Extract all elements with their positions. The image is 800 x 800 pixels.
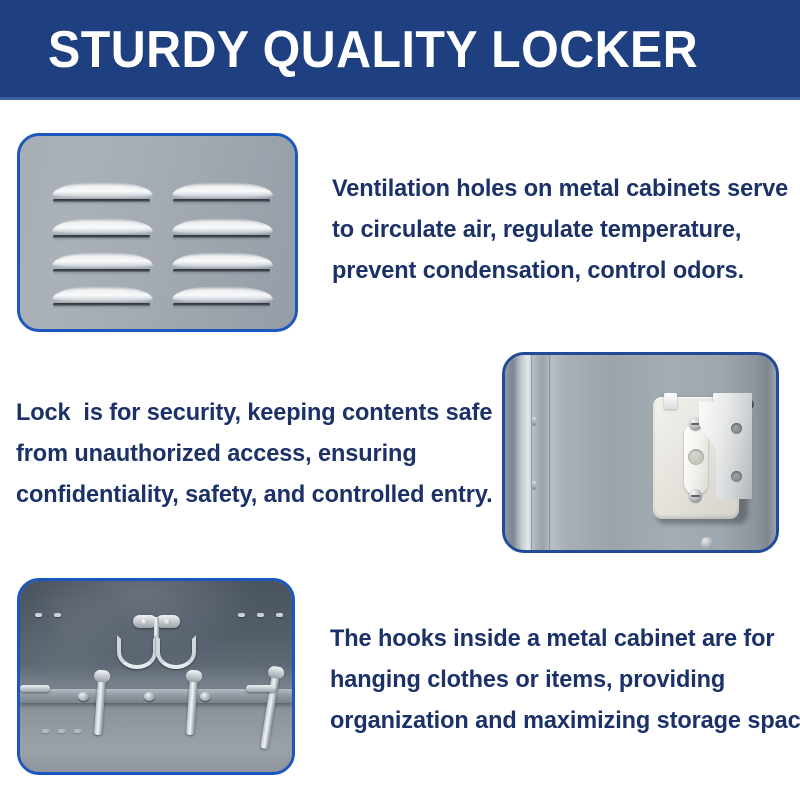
louver-blade — [172, 182, 273, 199]
hasp-lock-assembly — [653, 393, 755, 528]
lock-screw — [689, 489, 702, 502]
louver-slot — [53, 235, 150, 239]
punch-hole — [257, 613, 264, 617]
punch-hole — [74, 729, 81, 733]
ventilation-photo-panel — [17, 133, 298, 332]
caption-line: Lock is for security, keeping contents s… — [16, 392, 467, 433]
hook-arm-left — [117, 635, 157, 669]
louver-blade — [172, 286, 273, 303]
garment-hook-head — [94, 670, 111, 683]
caption-line: Ventilation holes on metal cabinets serv… — [332, 168, 766, 209]
punch-hole — [54, 613, 61, 617]
caption-line: organization and maximizing storage spac… — [330, 700, 770, 741]
door-seam — [549, 355, 551, 550]
louver-slot — [173, 199, 270, 203]
hasp-hole — [731, 471, 742, 482]
louver-slot — [53, 303, 150, 307]
vent-louver — [172, 252, 273, 275]
vent-louver — [52, 218, 153, 241]
louver-blade — [52, 286, 153, 303]
side-bracket — [246, 685, 276, 692]
vent-louver — [172, 218, 273, 241]
keeper-dimple — [688, 449, 704, 465]
door-seam — [531, 355, 533, 550]
punch-hole — [35, 613, 42, 617]
rail-stud — [144, 692, 155, 701]
louver-blade — [172, 252, 273, 269]
louver-blade — [52, 252, 153, 269]
louver-slot — [173, 235, 270, 239]
rail-stud — [200, 692, 211, 701]
hooks-caption: The hooks inside a metal cabinet are for… — [330, 618, 770, 741]
vent-louver — [172, 286, 273, 309]
door-rivet — [532, 417, 536, 426]
punch-hole — [276, 613, 283, 617]
hooks-photo-panel — [17, 578, 295, 775]
vent-louver — [52, 286, 153, 309]
caption-line: The hooks inside a metal cabinet are for — [330, 618, 770, 659]
caption-line: to circulate air, regulate temperature, — [332, 209, 766, 250]
vent-louver — [52, 252, 153, 275]
louver-blade — [52, 182, 153, 199]
punch-hole — [238, 613, 245, 617]
caption-line: hanging clothes or items, providing — [330, 659, 770, 700]
louver-slot — [53, 269, 150, 273]
vent-louver — [52, 182, 153, 205]
hook-arm-right — [156, 635, 196, 669]
double-coat-hook — [113, 609, 199, 679]
ventilation-caption: Ventilation holes on metal cabinets serv… — [332, 168, 766, 291]
hasp-tab — [664, 393, 677, 409]
lock-caption: Lock is for security, keeping contents s… — [16, 392, 467, 515]
louver-slot — [53, 199, 150, 203]
header-banner: STURDY QUALITY LOCKER — [0, 0, 800, 100]
vent-louver — [172, 182, 273, 205]
caption-line: from unauthorized access, ensuring — [16, 433, 467, 474]
door-rivet — [532, 481, 536, 490]
louver-blade — [172, 218, 273, 235]
louver-blade — [52, 218, 153, 235]
side-bracket — [20, 685, 50, 692]
garment-hook-head — [186, 670, 203, 683]
hasp-hole — [731, 423, 742, 434]
punch-hole — [58, 729, 65, 733]
caption-line: confidentiality, safety, and controlled … — [16, 474, 467, 515]
rail-stud — [78, 692, 89, 701]
lock-photo-panel — [502, 352, 779, 553]
louver-slot — [173, 303, 270, 307]
punch-hole — [42, 729, 49, 733]
lock-keeper-slot — [684, 423, 708, 495]
hook-mount-plate — [156, 615, 180, 628]
caption-line: prevent condensation, control odors. — [332, 250, 766, 291]
page-title: STURDY QUALITY LOCKER — [48, 24, 698, 76]
louver-slot — [173, 269, 270, 273]
door-bottom-screw — [701, 537, 713, 549]
